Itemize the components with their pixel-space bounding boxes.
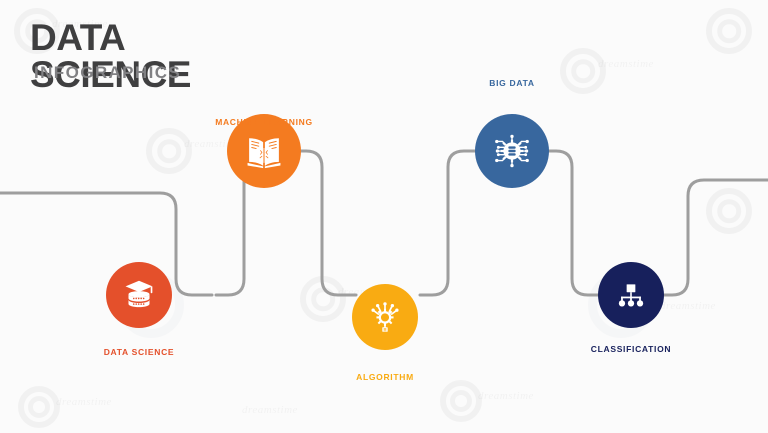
step-circle-big-data[interactable] (475, 114, 549, 188)
step-label-classification: CLASSIFICATION (561, 345, 701, 354)
step-circle-classification[interactable] (598, 262, 664, 328)
step-label-big-data: BIG DATA (442, 79, 582, 88)
hierarchy-tree-icon (612, 276, 650, 314)
step-circle-algorithm[interactable] (352, 284, 418, 350)
network-hub-database-icon (490, 129, 534, 173)
open-book-brain-icon (243, 130, 285, 172)
step-label-machine-learning: MACHINE LEARNING (194, 118, 334, 127)
step-label-algorithm: ALGORITHM (315, 373, 455, 382)
step-label-data-science: DATA SCIENCE (69, 348, 209, 357)
graduation-cap-database-icon (121, 277, 157, 313)
infographic-canvas: dreamstime dreamstime dreamstime dreamst… (0, 0, 768, 433)
page-subtitle: INFOGRAPHICS (34, 64, 181, 81)
step-circle-data-science[interactable] (106, 262, 172, 328)
gear-circuit-icon (366, 298, 404, 336)
